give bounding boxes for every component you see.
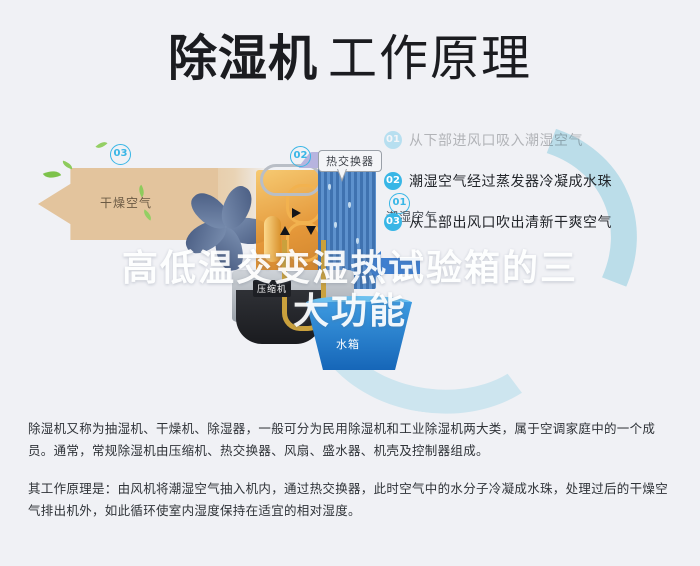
- diagram-badge-03: 03: [110, 144, 131, 165]
- step-text: 从下部进风口吸入潮湿空气: [409, 130, 583, 150]
- step-badge: 01: [384, 131, 402, 149]
- page-title: 除湿机工作原理: [0, 30, 700, 88]
- title-part-1: 除湿机: [168, 30, 318, 88]
- step-list: 01 从下部进风口吸入潮湿空气 02 潮湿空气经过蒸发器冷凝成水珠 03 从上部…: [384, 130, 684, 253]
- step-badge: 02: [384, 172, 402, 190]
- heat-exchanger-callout: 热交换器: [318, 150, 382, 172]
- callout-tail: [337, 169, 347, 182]
- title-part-2: 工作原理: [328, 30, 532, 88]
- flow-arrow-right-icon: [292, 208, 301, 218]
- coil-cylinder: [264, 216, 281, 262]
- flow-arrow-down-icon: [306, 226, 316, 235]
- body-text: 除湿机又称为抽湿机、干燥机、除湿器，一般可分为民用除湿机和工业除湿机两大类，属于…: [28, 418, 676, 538]
- condensation-drop: [348, 202, 351, 208]
- intake-air-arrow-icon: [380, 258, 420, 274]
- list-item: 03 从上部出风口吹出清新干爽空气: [384, 212, 684, 232]
- condensation-drop: [356, 238, 359, 244]
- paragraph-2: 其工作原理是：由风机将潮湿空气抽入机内，通过热交换器，此时空气中的水分子冷凝成水…: [28, 478, 676, 522]
- condensation-drop: [326, 254, 329, 260]
- infographic-page: 除湿机工作原理 干燥空气: [0, 0, 700, 566]
- leaf-icon: [95, 139, 107, 151]
- flow-arrow-up-icon: [280, 226, 290, 235]
- condensation-drop: [328, 184, 331, 190]
- condensation-drop: [334, 222, 337, 228]
- compressor-label: 压缩机: [253, 280, 291, 297]
- step-text: 潮湿空气经过蒸发器冷凝成水珠: [409, 171, 612, 191]
- coil-pipe: [260, 164, 322, 196]
- paragraph-1: 除湿机又称为抽湿机、干燥机、除湿器，一般可分为民用除湿机和工业除湿机两大类，属于…: [28, 418, 676, 462]
- list-item: 02 潮湿空气经过蒸发器冷凝成水珠: [384, 171, 684, 191]
- leaf-icon: [43, 167, 61, 182]
- water-tank-label: 水箱: [336, 336, 360, 352]
- leaf-icon: [61, 161, 73, 170]
- step-badge: 03: [384, 213, 402, 231]
- list-item: 01 从下部进风口吸入潮湿空气: [384, 130, 684, 150]
- step-text: 从上部出风口吹出清新干爽空气: [409, 212, 612, 232]
- diagram-badge-02: 02: [290, 146, 311, 167]
